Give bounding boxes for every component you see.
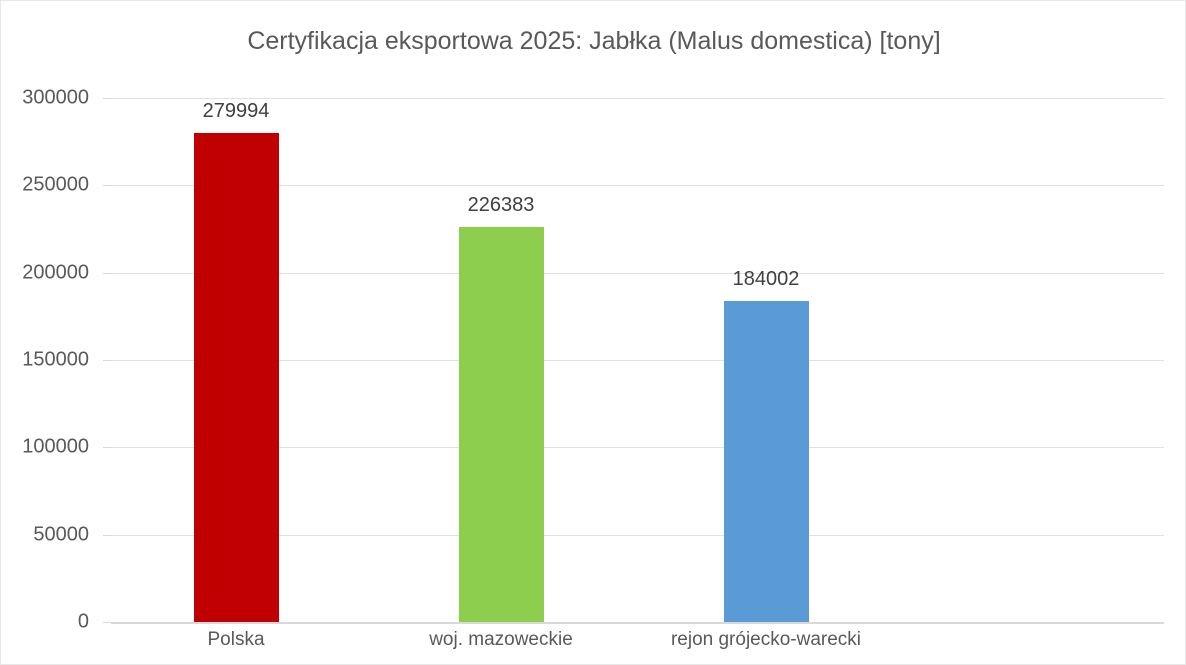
y-axis-tick-mark — [103, 622, 111, 623]
x-axis-category-label-polska: Polska — [86, 629, 386, 651]
y-axis-tick-mark — [103, 185, 111, 186]
y-axis-tick-label-0: 0 — [0, 611, 89, 634]
bar-value-label-polska: 279994 — [146, 100, 326, 123]
y-axis-tick-mark — [103, 98, 111, 99]
y-axis-tick-label-200000: 200000 — [0, 262, 89, 285]
chart-title: Certyfikacja eksportowa 2025: Jabłka (Ma… — [1, 27, 1186, 56]
y-axis-tick-label-50000: 50000 — [0, 524, 89, 547]
y-axis-tick-label-300000: 300000 — [0, 87, 89, 110]
y-axis-tick-label-150000: 150000 — [0, 349, 89, 372]
x-axis-line — [111, 622, 1164, 624]
bar-polska[interactable] — [194, 133, 279, 622]
y-axis-tick-label-100000: 100000 — [0, 436, 89, 459]
x-axis-category-label-rejon-grojecko-warecki: rejon grójecko-warecki — [616, 629, 916, 651]
y-axis-tick-mark — [103, 535, 111, 536]
y-axis-tick-mark — [103, 273, 111, 274]
bar-chart-canvas: Certyfikacja eksportowa 2025: Jabłka (Ma… — [0, 0, 1186, 665]
y-axis-tick-label-250000: 250000 — [0, 174, 89, 197]
bar-woj-mazoweckie[interactable] — [459, 227, 544, 622]
plot-area — [111, 98, 1164, 622]
gridline-300000 — [111, 98, 1164, 99]
bar-value-label-woj-mazoweckie: 226383 — [411, 194, 591, 217]
y-axis-tick-mark — [103, 447, 111, 448]
bar-rejon-grojecko-warecki[interactable] — [724, 301, 809, 622]
x-axis-category-label-woj-mazoweckie: woj. mazoweckie — [351, 629, 651, 651]
y-axis-tick-mark — [103, 360, 111, 361]
bar-value-label-rejon-grojecko-warecki: 184002 — [676, 268, 856, 291]
